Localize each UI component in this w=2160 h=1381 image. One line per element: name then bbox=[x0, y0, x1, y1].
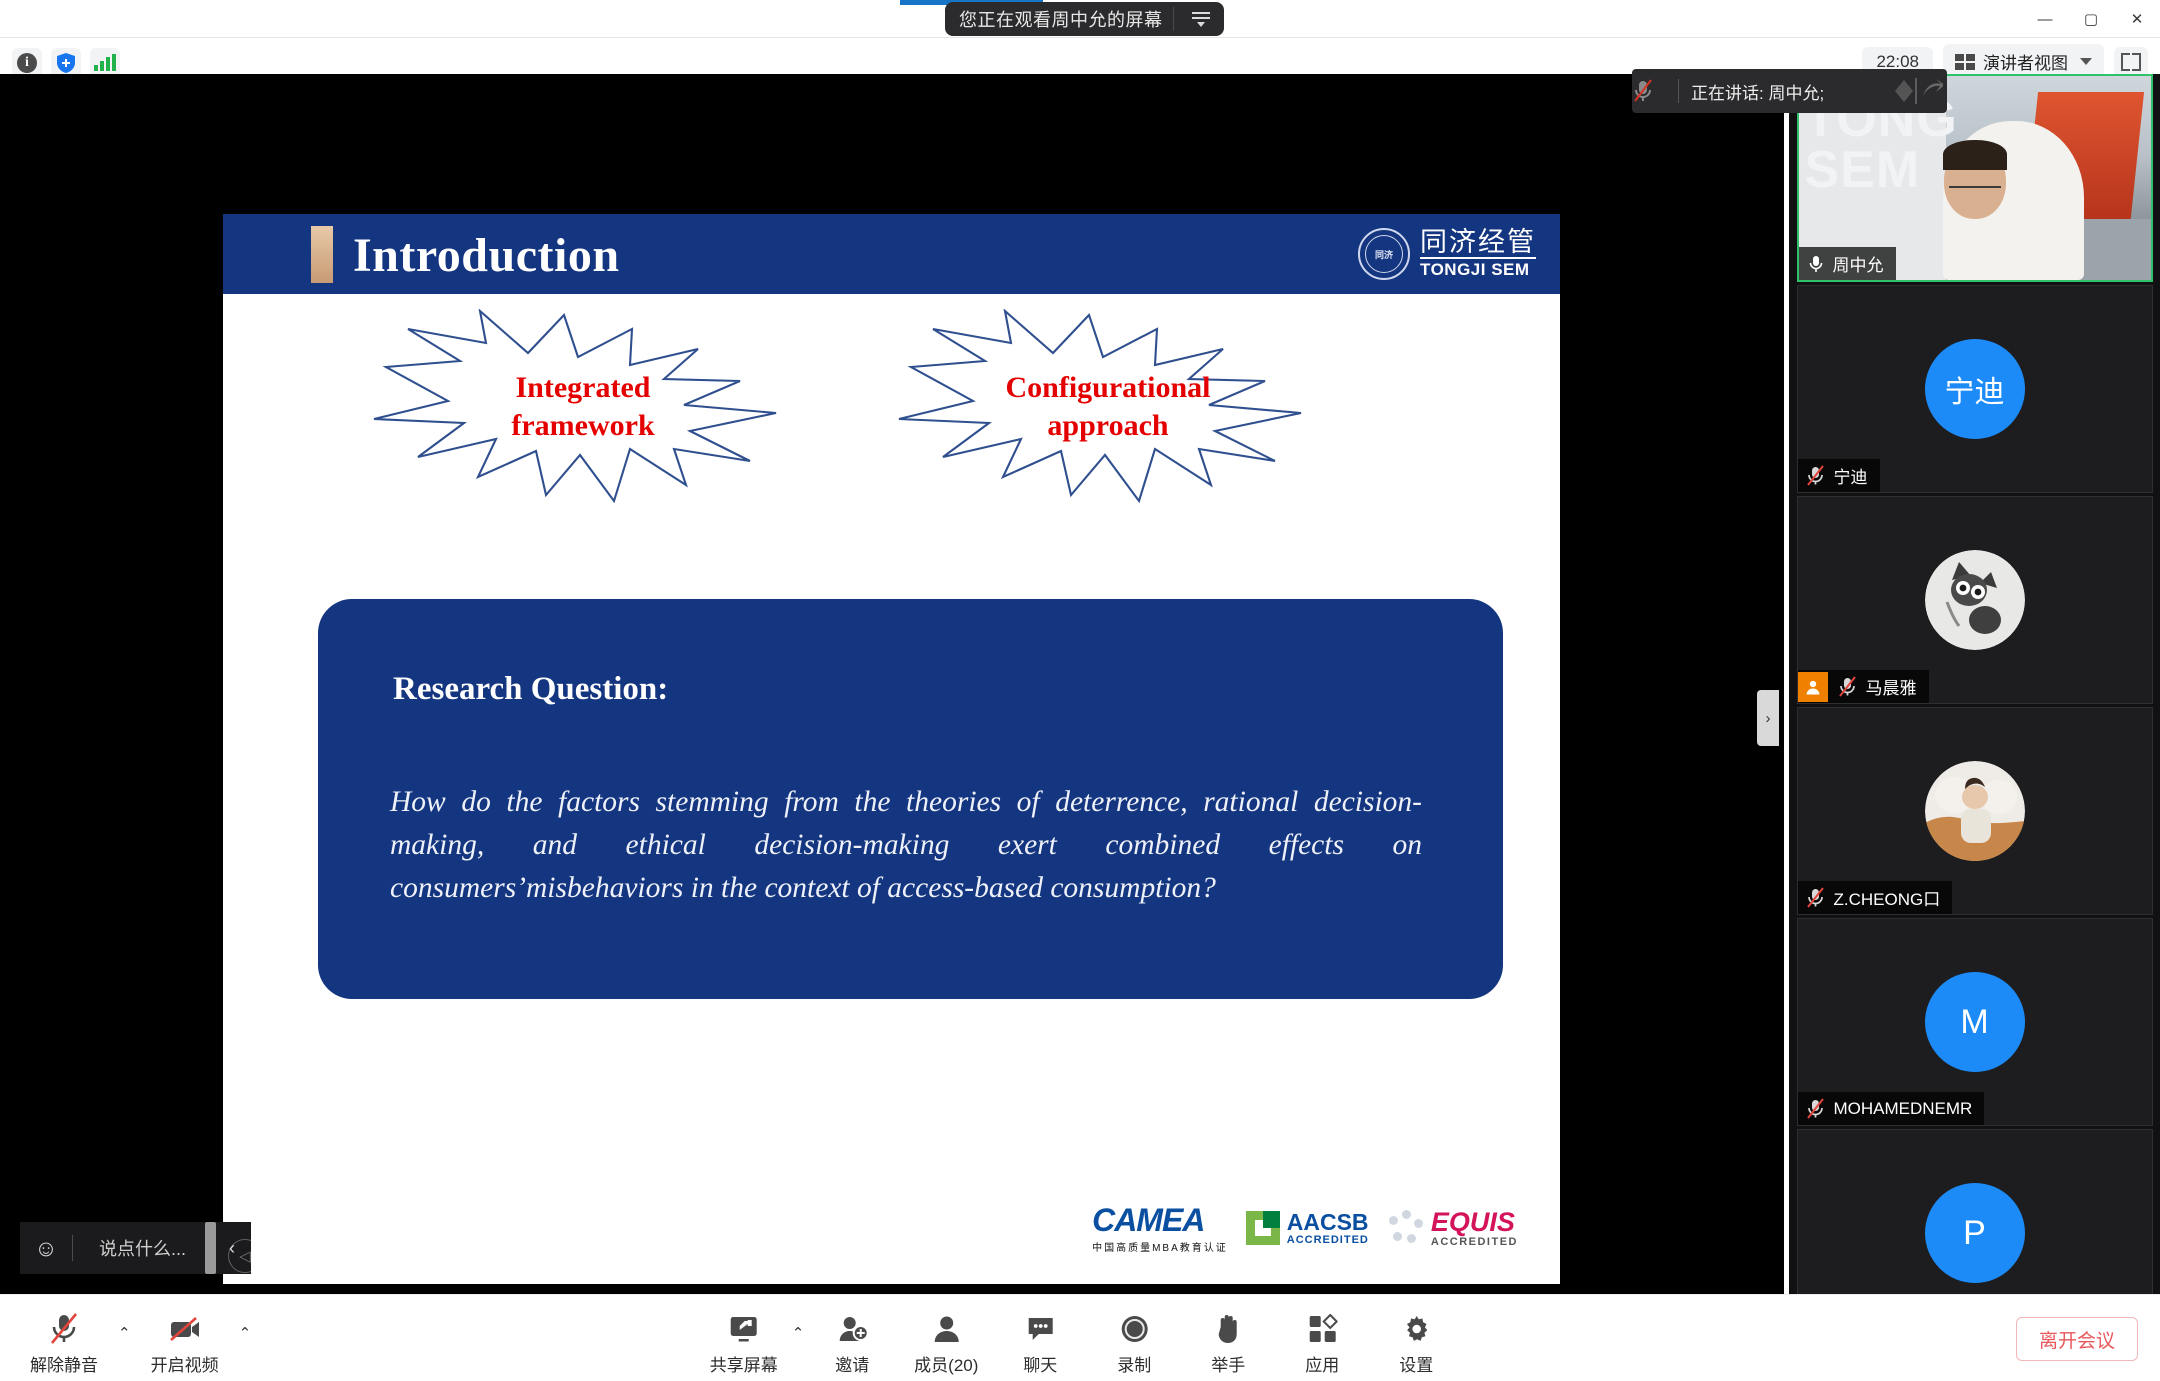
logo-english-text: TONGJI SEM bbox=[1420, 257, 1536, 280]
avatar bbox=[1925, 550, 2025, 650]
chat-input-placeholder[interactable]: 说点什么... bbox=[73, 1235, 212, 1261]
research-question-label: Research Question: bbox=[393, 671, 668, 708]
participants-label: 成员(20) bbox=[914, 1351, 978, 1376]
equis-sub: ACCREDITED bbox=[1431, 1236, 1518, 1248]
gear-icon bbox=[1401, 1309, 1431, 1349]
window-title-bar: 您正在观看周中允的屏幕 — ▢ ✕ bbox=[0, 0, 2160, 38]
slide-header: Introduction 同济 同济经管 TONGJI SEM bbox=[223, 214, 1560, 294]
share-options-caret[interactable]: ⌃ bbox=[792, 1324, 805, 1376]
avatar: 宁迪 bbox=[1925, 339, 2025, 439]
meeting-window: 您正在观看周中允的屏幕 — ▢ ✕ i 22:08 演讲者视 bbox=[0, 0, 2160, 1381]
expand-sidebar-arrow[interactable]: › bbox=[1757, 690, 1779, 746]
camera-off-icon bbox=[168, 1309, 202, 1349]
share-banner[interactable]: 您正在观看周中允的屏幕 bbox=[945, 2, 1224, 36]
toast-decor-icons bbox=[1885, 69, 1943, 113]
participant-name-bar: 马晨雅 bbox=[1798, 670, 1929, 703]
layout-grid-icon bbox=[1955, 54, 1975, 70]
ppt-prev-slide-icon[interactable]: ◁ bbox=[228, 1239, 262, 1273]
host-badge-icon bbox=[1798, 672, 1828, 702]
toolbar-center-group: 共享屏幕 ⌃ 邀请 成员(20) 聊天 bbox=[698, 1305, 1463, 1376]
camea-sub: 中国高质量MBA教育认证 bbox=[1092, 1239, 1228, 1254]
participants-icon bbox=[930, 1309, 962, 1349]
avatar bbox=[1925, 761, 2025, 861]
tongji-seal-icon: 同济 bbox=[1358, 228, 1410, 280]
aacsb-mark-icon bbox=[1246, 1211, 1280, 1245]
video-bg-text-2: SEM bbox=[1805, 145, 1958, 196]
record-icon bbox=[1118, 1309, 1150, 1349]
chat-input-bar[interactable]: ☺ 说点什么... ‹ bbox=[20, 1222, 251, 1274]
raise-hand-button[interactable]: 举手 bbox=[1182, 1305, 1274, 1376]
ppt-pen-icon[interactable]: ✎ bbox=[340, 1239, 374, 1273]
burst-shape-2: Configurational approach bbox=[893, 309, 1323, 504]
equis-network-icon bbox=[1387, 1210, 1425, 1246]
chat-label: 聊天 bbox=[1023, 1351, 1057, 1376]
invite-label: 邀请 bbox=[835, 1351, 869, 1376]
camea-logo: CAMEA 中国高质量MBA教育认证 bbox=[1092, 1202, 1228, 1254]
participant-tile[interactable]: M MOHAMEDNEMR bbox=[1797, 918, 2153, 1126]
participant-name: 宁迪 bbox=[1834, 463, 1868, 488]
burst-1-line-2: framework bbox=[511, 407, 654, 444]
cat-avatar-image bbox=[1925, 550, 2025, 650]
record-button[interactable]: 录制 bbox=[1088, 1305, 1180, 1376]
chat-button[interactable]: 聊天 bbox=[994, 1305, 1086, 1376]
burst-text-2: Configurational approach bbox=[893, 309, 1323, 504]
research-question-text: How do the factors stemming from the the… bbox=[390, 781, 1422, 910]
participants-strip[interactable]: TONG SEM 周中允 宁迪 宁迪 bbox=[1789, 74, 2160, 1294]
participant-name: 马晨雅 bbox=[1866, 674, 1917, 699]
speaking-toast: 正在讲话: 周中允; bbox=[1632, 69, 1947, 113]
burst-text-1: Integrated framework bbox=[368, 309, 798, 504]
leave-meeting-button[interactable]: 离开会议 bbox=[2016, 1317, 2138, 1361]
ppt-slide-grid-icon[interactable]: ▦ bbox=[396, 1239, 430, 1273]
participant-name: MOHAMEDNEMR bbox=[1834, 1099, 1973, 1119]
mic-on-icon bbox=[1799, 254, 1833, 274]
settings-label: 设置 bbox=[1399, 1351, 1433, 1376]
close-button[interactable]: ✕ bbox=[2114, 0, 2160, 38]
presentation-slide: Introduction 同济 同济经管 TONGJI SEM Integrat… bbox=[223, 214, 1560, 1284]
burst-shape-1: Integrated framework bbox=[368, 309, 798, 504]
burst-2-line-2: approach bbox=[1047, 407, 1168, 444]
burst-shapes-row: Integrated framework Configurational app… bbox=[223, 309, 1560, 509]
speaking-label: 正在讲话: 周中允; bbox=[1691, 79, 1824, 104]
participant-name-bar: 宁迪 bbox=[1798, 459, 1880, 492]
emoji-icon[interactable]: ☺ bbox=[20, 1235, 72, 1262]
chevron-down-icon bbox=[2080, 58, 2092, 65]
mic-muted-icon bbox=[1830, 676, 1866, 698]
participant-tile[interactable]: 宁迪 宁迪 bbox=[1797, 285, 2153, 493]
video-options-caret[interactable]: ⌃ bbox=[239, 1324, 252, 1376]
record-label: 录制 bbox=[1117, 1351, 1151, 1376]
toolbar-left-group: 解除静音 ⌃ 开启视频 ⌃ bbox=[16, 1305, 251, 1376]
burst-2-line-1: Configurational bbox=[1005, 369, 1210, 406]
participant-tile[interactable]: Z.CHEONG口 bbox=[1797, 707, 2153, 915]
participant-name: Z.CHEONG口 bbox=[1834, 885, 1941, 910]
participant-tile[interactable]: P ⌄ bbox=[1797, 1129, 2153, 1294]
share-screen-label: 共享屏幕 bbox=[710, 1351, 778, 1376]
avatar: M bbox=[1925, 972, 2025, 1072]
mic-muted-icon bbox=[1798, 1098, 1834, 1120]
burst-1-line-1: Integrated bbox=[516, 369, 651, 406]
baby-avatar-image bbox=[1925, 761, 2025, 861]
meeting-toolbar: 解除静音 ⌃ 开启视频 ⌃ 共享屏幕 ⌃ bbox=[0, 1294, 2160, 1381]
slide-title-accent-bar bbox=[311, 226, 333, 283]
start-video-label: 开启视频 bbox=[151, 1351, 219, 1376]
equis-name: EQUIS bbox=[1431, 1209, 1518, 1236]
tongji-sem-logo: 同济 同济经管 TONGJI SEM bbox=[1358, 228, 1536, 280]
ppt-presenter-controls: ◁ ▷ ✎ ▦ ··· bbox=[228, 1239, 542, 1273]
fullscreen-button[interactable] bbox=[2114, 47, 2148, 77]
raise-hand-label: 举手 bbox=[1211, 1351, 1245, 1376]
mic-muted-icon bbox=[1798, 887, 1834, 909]
participant-tile[interactable]: 马晨雅 bbox=[1797, 496, 2153, 704]
share-banner-label: 您正在观看周中允的屏幕 bbox=[959, 6, 1163, 32]
participant-name-bar: MOHAMEDNEMR bbox=[1798, 1092, 1985, 1125]
invite-button[interactable]: 邀请 bbox=[806, 1305, 898, 1376]
view-mode-label: 演讲者视图 bbox=[1983, 49, 2068, 74]
aacsb-name: AACSB bbox=[1287, 1211, 1369, 1234]
mic-muted-icon bbox=[49, 1309, 79, 1349]
start-video-button[interactable]: 开启视频 bbox=[137, 1305, 233, 1376]
ppt-zoom-icon[interactable] bbox=[452, 1239, 486, 1273]
apps-button[interactable]: 应用 bbox=[1276, 1305, 1368, 1376]
aacsb-sub: ACCREDITED bbox=[1287, 1234, 1369, 1246]
research-question-box: Research Question: How do the factors st… bbox=[318, 599, 1503, 999]
share-screen-button[interactable]: 共享屏幕 bbox=[698, 1305, 790, 1376]
ppt-more-icon[interactable]: ··· bbox=[508, 1239, 542, 1273]
logo-chinese-text: 同济经管 bbox=[1420, 228, 1536, 256]
invite-icon bbox=[836, 1309, 868, 1349]
mic-muted-icon bbox=[1798, 465, 1834, 487]
toast-divider bbox=[1678, 79, 1679, 103]
participants-button[interactable]: 成员(20) bbox=[900, 1305, 992, 1376]
shared-screen-stage: Introduction 同济 同济经管 TONGJI SEM Integrat… bbox=[0, 74, 1784, 1294]
mic-muted-icon bbox=[1632, 78, 1678, 104]
ppt-next-slide-icon[interactable]: ▷ bbox=[284, 1239, 318, 1273]
participant-name-bar: Z.CHEONG口 bbox=[1798, 881, 1953, 914]
camea-name: CAMEA bbox=[1092, 1202, 1228, 1239]
share-screen-icon bbox=[727, 1309, 761, 1349]
unmute-button[interactable]: 解除静音 bbox=[16, 1305, 112, 1376]
audio-options-caret[interactable]: ⌃ bbox=[118, 1324, 131, 1376]
accreditation-logos: CAMEA 中国高质量MBA教育认证 AACSB ACCREDITED bbox=[1092, 1202, 1518, 1254]
participant-name-bar: 周中允 bbox=[1799, 247, 1896, 280]
minimize-button[interactable]: — bbox=[2022, 0, 2068, 38]
chat-icon bbox=[1024, 1309, 1056, 1349]
window-controls: — ▢ ✕ bbox=[2022, 0, 2160, 38]
aacsb-logo: AACSB ACCREDITED bbox=[1246, 1211, 1369, 1246]
equis-logo: EQUIS ACCREDITED bbox=[1387, 1209, 1518, 1248]
slide-title: Introduction bbox=[353, 228, 620, 283]
unmute-label: 解除静音 bbox=[30, 1351, 98, 1376]
share-menu-icon[interactable] bbox=[1184, 12, 1218, 27]
chat-resize-handle[interactable] bbox=[205, 1222, 216, 1274]
participant-name: 周中允 bbox=[1833, 251, 1884, 276]
raise-hand-icon bbox=[1213, 1309, 1243, 1349]
seal-text: 同济 bbox=[1360, 230, 1408, 278]
share-banner-divider bbox=[1173, 7, 1174, 31]
settings-button[interactable]: 设置 bbox=[1370, 1305, 1462, 1376]
maximize-button[interactable]: ▢ bbox=[2068, 0, 2114, 38]
apps-label: 应用 bbox=[1305, 1351, 1339, 1376]
avatar: P bbox=[1925, 1183, 2025, 1283]
apps-icon bbox=[1307, 1309, 1337, 1349]
